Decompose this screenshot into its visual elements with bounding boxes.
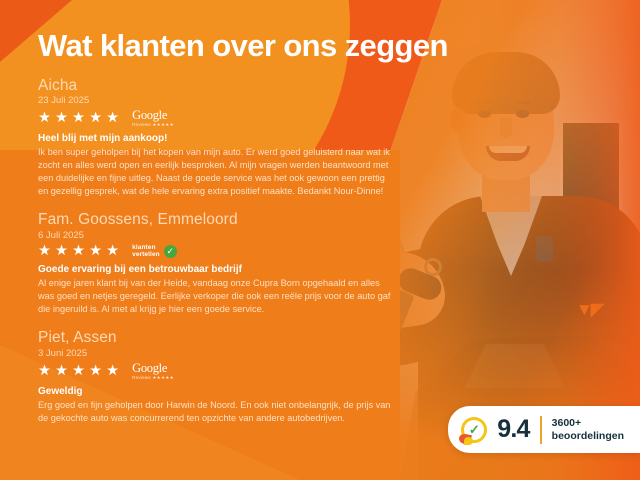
rating-divider [540,416,542,444]
rating-count-label: beoordelingen [552,430,624,443]
review-body: Ik ben super geholpen bij het kopen van … [38,146,396,198]
google-reviews-badge[interactable]: Google Reviews ★★★★★ [132,109,174,128]
overall-rating-badge[interactable]: ✓ 9.4 3600+ beoordelingen [448,406,640,453]
klantenvertellen-check-icon: ✓ [461,417,487,443]
rating-count-block: 3600+ beoordelingen [552,417,624,443]
star-rating-icon: ★ ★ ★ ★ ★ [38,244,119,259]
google-reviews-subtext: Reviews ★★★★★ [132,376,174,381]
review-author: Fam. Goossens, Emmeloord [38,211,640,229]
google-reviews-badge[interactable]: Google Reviews ★★★★★ [132,362,174,381]
page-title: Wat klanten over ons zeggen [38,30,640,63]
review-body: Erg goed en fijn geholpen door Harwin de… [38,399,396,425]
review-title: Heel blij met mijn aankoop! [38,133,640,144]
rating-count: 3600+ [552,417,624,430]
review-author: Aicha [38,77,640,95]
review-body: Al enige jaren klant bij van der Heide, … [38,277,396,316]
klantenvertellen-line1: klanten [132,244,160,251]
klantenvertellen-logo-text: klanten vertellen [132,244,160,259]
review-card: Aicha 23 Juli 2025 ★ ★ ★ ★ ★ Google Revi… [38,77,640,199]
star-rating-icon: ★ ★ ★ ★ ★ [38,364,119,379]
google-logo-text: Google [132,362,167,375]
review-date: 6 Juli 2025 [38,230,640,241]
review-meta: ★ ★ ★ ★ ★ Google Reviews ★★★★★ [38,109,640,128]
review-meta: ★ ★ ★ ★ ★ klanten vertellen ✓ [38,244,640,259]
rating-score: 9.4 [497,415,529,444]
review-title: Geweldig [38,386,640,397]
review-date: 23 Juli 2025 [38,95,640,106]
review-meta: ★ ★ ★ ★ ★ Google Reviews ★★★★★ [38,362,640,381]
google-reviews-subtext: Reviews ★★★★★ [132,123,174,128]
review-date: 3 Juni 2025 [38,348,640,359]
review-title: Goede ervaring bij een betrouwbaar bedri… [38,264,640,275]
google-logo-text: Google [132,109,167,122]
klantenvertellen-line2: vertellen [132,251,160,258]
star-rating-icon: ★ ★ ★ ★ ★ [38,111,119,126]
review-card: Fam. Goossens, Emmeloord 6 Juli 2025 ★ ★… [38,211,640,316]
klantenvertellen-badge[interactable]: klanten vertellen ✓ [132,244,177,259]
checkmark-circle-icon: ✓ [164,245,177,258]
rating-icon-tail-accent [464,437,473,445]
review-author: Piet, Assen [38,329,640,347]
